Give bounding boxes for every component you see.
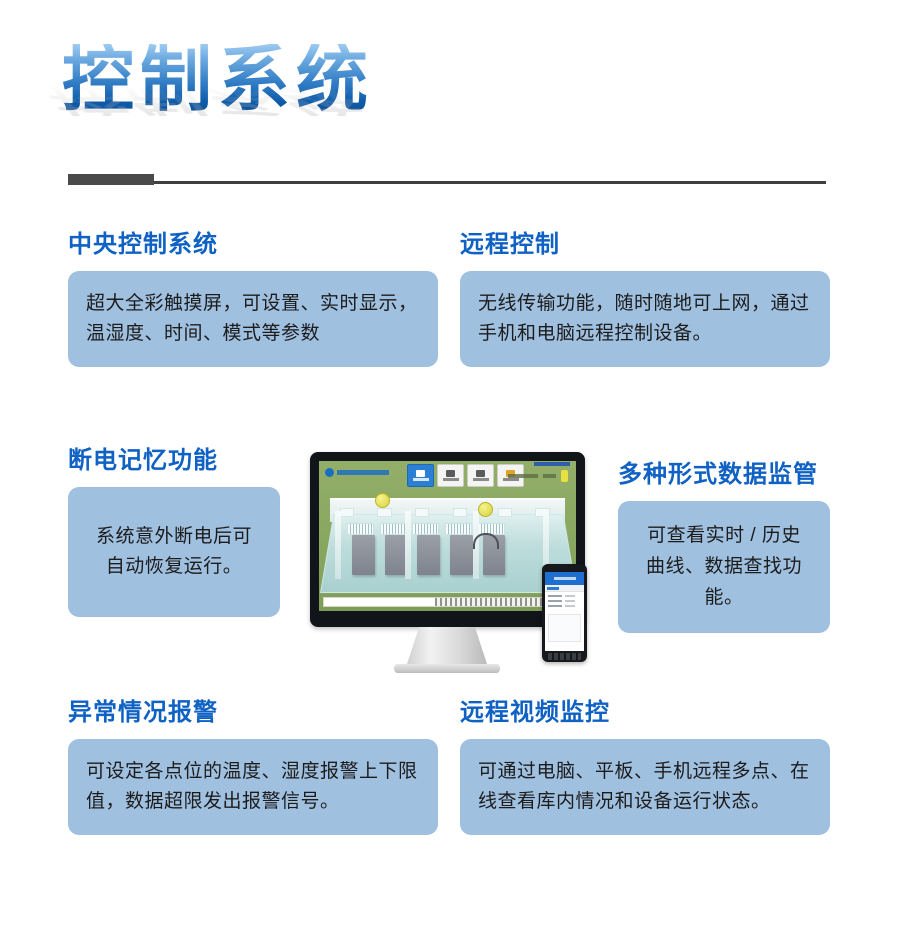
screen-toolbar — [319, 461, 576, 487]
feature-data-supervision: 多种形式数据监管 可查看实时 / 历史曲线、数据查找功能。 — [618, 462, 830, 633]
section-divider — [68, 174, 830, 186]
facility-roof-cap — [340, 508, 355, 518]
facility-pillar — [335, 511, 341, 579]
monitor-stand-neck — [406, 627, 488, 667]
feature-body-box: 超大全彩触摸屏，可设置、实时显示，温湿度、时间、模式等参数 — [68, 271, 438, 367]
logo-mark-icon — [325, 468, 334, 477]
status-lamp-icon — [561, 470, 568, 482]
feature-remote-video: 远程视频监控 可通过电脑、平板、手机远程多点、在线查看库内情况和设备运行状态。 — [460, 700, 830, 835]
facility-roof-cap — [377, 508, 392, 518]
phone-list-item[interactable] — [548, 605, 581, 607]
page-bottom-padding — [0, 875, 900, 945]
feature-central-control: 中央控制系统 超大全彩触摸屏，可设置、实时显示，温湿度、时间、模式等参数 — [68, 232, 438, 367]
status-datetime — [508, 474, 538, 478]
feature-body-text: 可通过电脑、平板、手机远程多点、在线查看库内情况和设备运行状态。 — [478, 757, 812, 819]
feature-body-text: 无线传输功能，随时随地可上网，通过手机和电脑远程控制设备。 — [478, 289, 812, 351]
feature-heading: 异常情况报警 — [68, 700, 438, 726]
feature-body-box: 可查看实时 / 历史曲线、数据查找功能。 — [618, 501, 830, 633]
screen-tab-2[interactable] — [437, 464, 464, 487]
phone-list-item[interactable] — [548, 600, 581, 602]
screen-status-bar — [323, 597, 572, 607]
facility-rack — [412, 523, 439, 535]
screen-tab-1[interactable] — [407, 464, 434, 487]
facility-roof-cap — [453, 508, 468, 518]
phone-row-label — [548, 605, 562, 607]
device-illustration — [310, 452, 600, 677]
monitor-stand-base — [394, 664, 500, 673]
window-controls[interactable] — [534, 462, 570, 466]
smartphone — [542, 564, 587, 662]
status-bar-blank — [324, 598, 435, 606]
facility-rack — [380, 523, 407, 535]
phone-row-value — [565, 600, 575, 602]
facility-conveyor-arc — [473, 533, 499, 549]
facility-3d-diagram — [322, 491, 573, 601]
screen-tab-group — [407, 464, 524, 487]
phone-row-value — [565, 595, 575, 597]
status-user — [543, 474, 556, 478]
feature-body-text: 可设定各点位的温度、湿度报警上下限值，数据超限发出报警信号。 — [86, 757, 420, 819]
phone-row-value — [565, 605, 575, 607]
screen-tab-label — [443, 478, 459, 481]
facility-pillar — [405, 511, 411, 579]
sensor-status-icon — [375, 493, 390, 508]
feature-body-text: 超大全彩触摸屏，可设置、实时显示，温湿度、时间、模式等参数 — [86, 289, 420, 351]
monitor-screen — [319, 461, 576, 611]
facility-rack — [347, 523, 374, 535]
facility-equipment-unit — [352, 535, 375, 575]
facility-equipment-unit — [450, 535, 473, 575]
phone-active-tab[interactable] — [547, 587, 559, 590]
sensor-status-icon — [478, 502, 493, 517]
phone-home-indicator — [548, 653, 581, 660]
feature-body-text: 系统意外断电后可自动恢复运行。 — [90, 522, 258, 584]
facility-rack — [445, 523, 472, 535]
feature-body-box: 系统意外断电后可自动恢复运行。 — [68, 487, 280, 617]
phone-app-header — [545, 572, 584, 585]
page-title-block: 控制系统 控制系统 — [62, 44, 582, 154]
divider-thin-line — [154, 181, 826, 184]
feature-heading: 远程视频监控 — [460, 700, 830, 726]
phone-app-subbar — [545, 585, 584, 592]
screen-tab-3[interactable] — [467, 464, 494, 487]
phone-data-list — [545, 592, 584, 651]
phone-content-panel — [548, 614, 581, 642]
phone-screen — [545, 572, 584, 651]
phone-list-item[interactable] — [548, 595, 581, 597]
page-title: 控制系统 — [62, 44, 582, 116]
screen-tab-label — [473, 478, 489, 481]
screen-status-area — [508, 470, 568, 482]
divider-thick-segment — [68, 174, 154, 185]
feature-heading: 断电记忆功能 — [68, 448, 280, 474]
feature-heading: 多种形式数据监管 — [618, 462, 830, 488]
feature-remote-control: 远程控制 无线传输功能，随时随地可上网，通过手机和电脑远程控制设备。 — [460, 232, 830, 367]
feature-body-box: 可设定各点位的温度、湿度报警上下限值，数据超限发出报警信号。 — [68, 739, 438, 835]
feature-power-memory: 断电记忆功能 系统意外断电后可自动恢复运行。 — [68, 448, 280, 617]
facility-equipment-unit — [417, 535, 440, 575]
screen-tab-label — [413, 478, 429, 481]
chart-view-icon — [446, 470, 455, 477]
logo-wordmark — [337, 470, 389, 475]
feature-heading: 远程控制 — [460, 232, 830, 258]
camera-view-icon — [476, 470, 485, 477]
facility-roof-cap — [498, 508, 513, 518]
facility-roof-cap — [415, 508, 430, 518]
monitor-view-icon — [416, 470, 425, 477]
phone-row-label — [548, 595, 562, 597]
phone-app-title — [554, 577, 576, 580]
feature-body-text: 可查看实时 / 历史曲线、数据查找功能。 — [642, 521, 806, 613]
feature-body-box: 可通过电脑、平板、手机远程多点、在线查看库内情况和设备运行状态。 — [460, 739, 830, 835]
phone-row-label — [548, 600, 562, 602]
feature-heading: 中央控制系统 — [68, 232, 438, 258]
feature-abnormal-alarm: 异常情况报警 可设定各点位的温度、湿度报警上下限值，数据超限发出报警信号。 — [68, 700, 438, 835]
feature-body-box: 无线传输功能，随时随地可上网，通过手机和电脑远程控制设备。 — [460, 271, 830, 367]
software-logo — [325, 468, 389, 477]
